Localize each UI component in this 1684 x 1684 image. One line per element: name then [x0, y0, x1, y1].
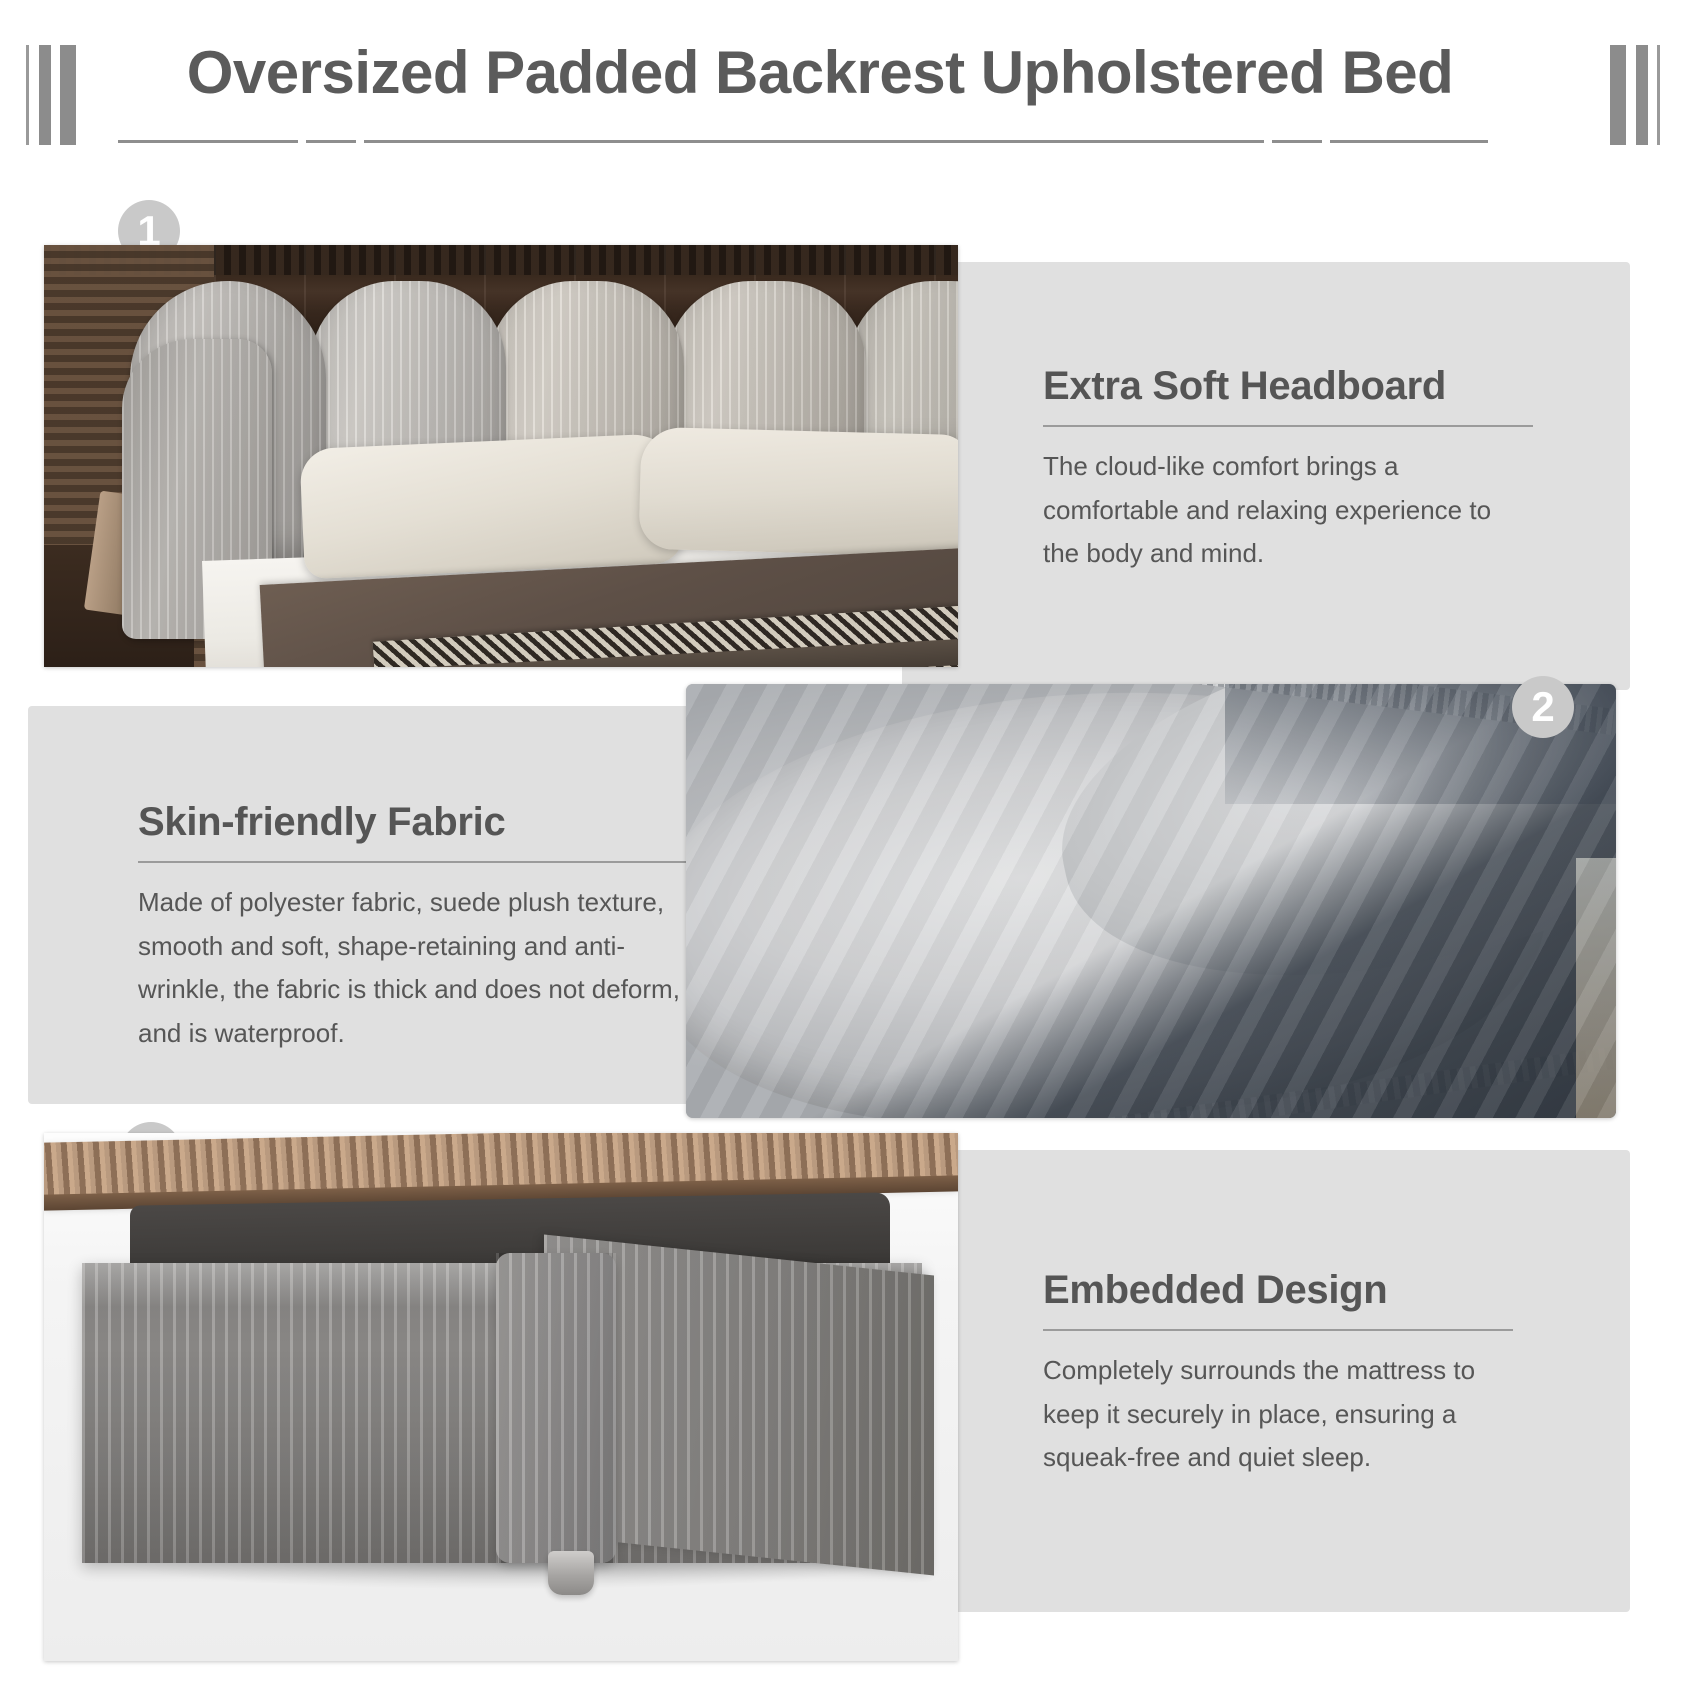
left-decorative-bars — [26, 45, 88, 145]
photo1-pillow — [638, 427, 958, 558]
photo3-frame-ribbing — [496, 1253, 616, 1563]
feature-title-1: Extra Soft Headboard — [1043, 364, 1533, 409]
header-banner: Oversized Padded Backrest Upholstered Be… — [0, 0, 1684, 175]
feature-photo-1-headboard — [44, 245, 958, 667]
right-decorative-bars — [1598, 45, 1660, 145]
feature-body-2: Made of polyester fabric, suede plush te… — [138, 881, 698, 1056]
bar-thick-icon — [1610, 45, 1626, 145]
feature-text-3: Embedded Design Completely surrounds the… — [1043, 1268, 1513, 1480]
feature-divider-1 — [1043, 425, 1533, 427]
feature-text-1: Extra Soft Headboard The cloud-like comf… — [1043, 364, 1533, 576]
bar-thin-icon — [26, 45, 29, 145]
feature-photo-3-base — [44, 1133, 958, 1661]
page-title: Oversized Padded Backrest Upholstered Be… — [110, 38, 1530, 107]
feature-title-2: Skin-friendly Fabric — [138, 800, 698, 845]
title-rule-segment — [364, 140, 1264, 143]
title-rule-segment — [1272, 140, 1322, 143]
feature-body-3: Completely surrounds the mattress to kee… — [1043, 1349, 1513, 1480]
feature-title-3: Embedded Design — [1043, 1268, 1513, 1313]
photo2-suede-sheen-texture — [686, 684, 1616, 1118]
photo3-bed-leg — [548, 1551, 594, 1595]
feature-body-1: The cloud-like comfort brings a comforta… — [1043, 445, 1533, 576]
title-rule-segment — [1330, 140, 1488, 143]
title-rule-segment — [306, 140, 356, 143]
title-rule-segment — [118, 140, 298, 143]
feature-divider-3 — [1043, 1329, 1513, 1331]
step-badge-2: 2 — [1512, 676, 1574, 738]
bar-thick-icon — [60, 45, 76, 145]
photo1-pillow — [299, 433, 684, 579]
feature-photo-2-fabric — [686, 684, 1616, 1118]
bar-medium-icon — [39, 45, 51, 145]
photo3-floor-shadow — [124, 1563, 884, 1589]
photo3-frame-corner — [496, 1253, 616, 1563]
bar-medium-icon — [1636, 45, 1648, 145]
bar-thin-icon — [1657, 45, 1660, 145]
feature-text-2: Skin-friendly Fabric Made of polyester f… — [138, 800, 698, 1056]
feature-divider-2 — [138, 861, 698, 863]
